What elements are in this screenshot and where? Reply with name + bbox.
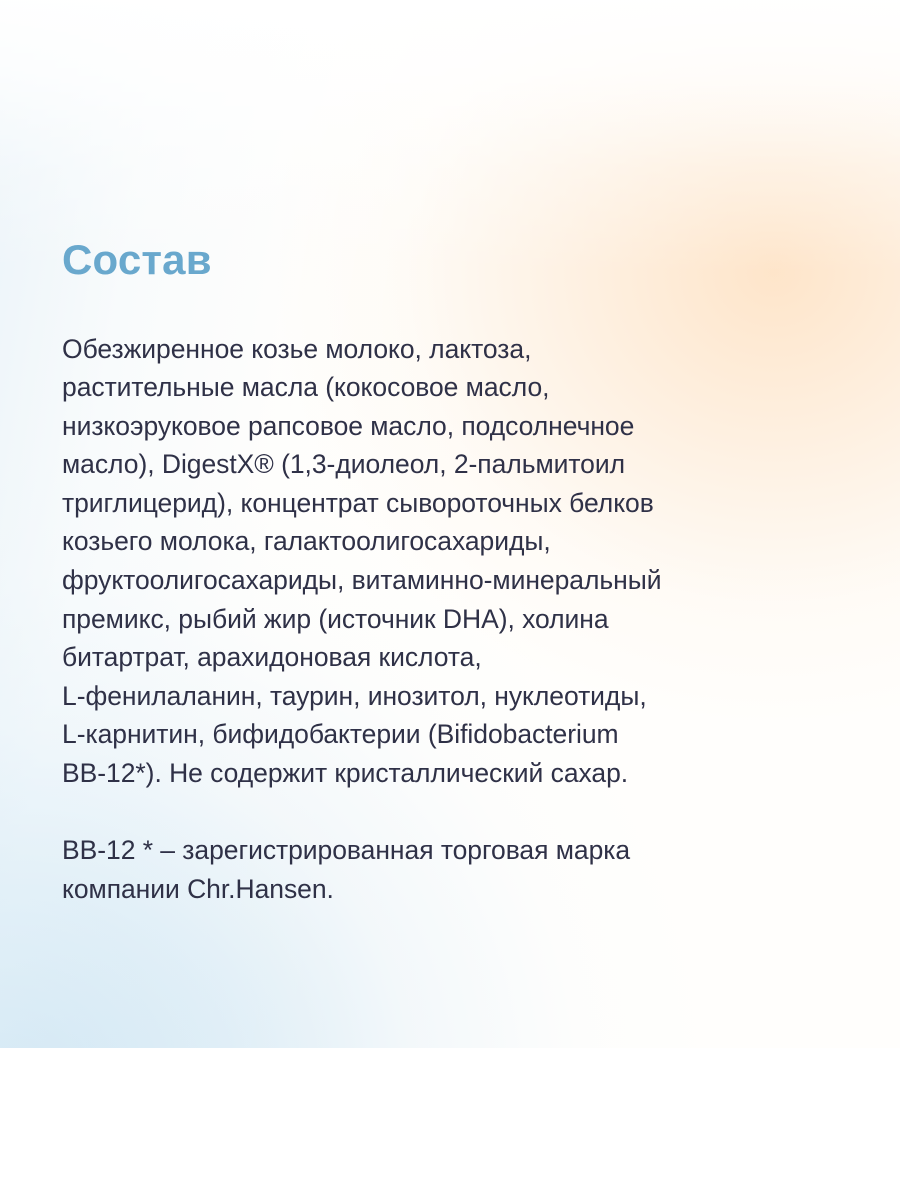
ingredients-line: козьего молока, галактоолигосахариды, [62,522,852,561]
page-title: Состав [62,239,212,281]
product-info-card: Состав Обезжиренное козье молоко, лактоз… [0,0,900,1200]
trademark-note-line: компании Chr.Hansen. [62,870,852,909]
ingredients-line: растительные масла (кокосовое масло, [62,368,852,407]
ingredients-paragraph: Обезжиренное козье молоко, лактоза, раст… [62,330,852,793]
ingredients-line: битартрат, арахидоновая кислота, [62,638,852,677]
ingredients-line: L-фенилаланин, таурин, инозитол, нуклеот… [62,677,852,716]
ingredients-line: Обезжиренное козье молоко, лактоза, [62,330,852,369]
ingredients-section: Обезжиренное козье молоко, лактоза, раст… [62,303,852,935]
content-area: Состав Обезжиренное козье молоко, лактоз… [0,0,900,1200]
ingredients-line: BB-12*). Не содержит кристаллический сах… [62,754,852,793]
ingredients-line: L-карнитин, бифидобактерии (Bifidobacter… [62,715,852,754]
ingredients-line: масло), DigestX® (1,3-диолеол, 2-пальмит… [62,445,852,484]
trademark-note-line: BB-12 * – зарегистрированная торговая ма… [62,831,852,870]
ingredients-line: триглицерид), концентрат сывороточных бе… [62,484,852,523]
trademark-note-paragraph: BB-12 * – зарегистрированная торговая ма… [62,831,852,908]
ingredients-line: низкоэруковое рапсовое масло, подсолнечн… [62,407,852,446]
ingredients-line: премикс, рыбий жир (источник DHA), холин… [62,600,852,639]
ingredients-line: фруктоолигосахариды, витаминно-минеральн… [62,561,852,600]
